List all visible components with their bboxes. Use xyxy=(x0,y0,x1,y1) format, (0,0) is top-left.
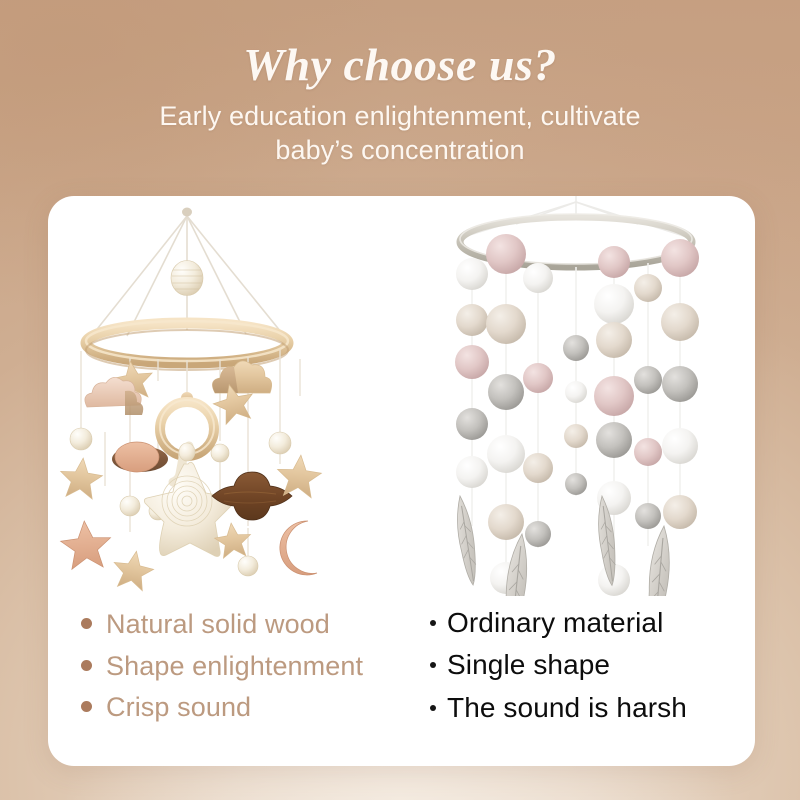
crochet-bead-top xyxy=(171,261,203,296)
our-feature-1: Natural solid wood xyxy=(106,607,330,643)
page-subtitle: Early education enlightenment, cultivate… xyxy=(0,99,800,167)
other-feature-1: Ordinary material xyxy=(447,605,663,641)
bullet-dot-icon xyxy=(430,705,436,711)
our-feature-2: Shape enlightenment xyxy=(106,649,363,685)
wood-moon xyxy=(280,521,317,575)
bullet-dot-icon xyxy=(81,660,92,671)
bullet-dot-icon xyxy=(81,701,92,712)
wooden-baby-mobile-image xyxy=(48,196,408,596)
our-feature-3: Crisp sound xyxy=(106,690,251,726)
felt-feather-1 xyxy=(452,495,480,586)
wood-star-2 xyxy=(58,456,104,500)
other-product-feature-list: Ordinary material Single shape The sound… xyxy=(416,601,755,751)
bullet-dot-icon xyxy=(430,662,436,668)
bullet-dot-icon xyxy=(430,620,436,626)
other-feature-2: Single shape xyxy=(447,647,610,683)
list-item: Shape enlightenment xyxy=(81,649,416,685)
promo-banner: Why choose us? Early education enlighten… xyxy=(0,0,800,800)
wood-star-salmon xyxy=(59,519,112,570)
list-item: Single shape xyxy=(430,647,755,683)
wood-star-3 xyxy=(110,548,156,592)
other-feature-3: The sound is harsh xyxy=(447,690,687,726)
our-product-feature-list: Natural solid wood Shape enlightenment C… xyxy=(48,601,416,751)
list-item: Ordinary material xyxy=(430,605,755,641)
page-subtitle-line-2: baby’s concentration xyxy=(0,133,800,167)
list-item: Natural solid wood xyxy=(81,607,416,643)
bullet-dot-icon xyxy=(81,618,92,629)
felt-pompom-baby-mobile-image xyxy=(408,196,755,596)
comparison-card: Natural solid wood Shape enlightenment C… xyxy=(48,196,755,766)
felt-feather-4 xyxy=(645,525,673,596)
product-images-row xyxy=(48,196,755,596)
feature-lists: Natural solid wood Shape enlightenment C… xyxy=(48,601,755,751)
page-title: Why choose us? xyxy=(0,42,800,88)
wood-planet-salmon xyxy=(112,442,168,472)
header: Why choose us? Early education enlighten… xyxy=(0,0,800,167)
list-item: The sound is harsh xyxy=(430,690,755,726)
list-item: Crisp sound xyxy=(81,690,416,726)
page-subtitle-line-1: Early education enlightenment, cultivate xyxy=(0,99,800,133)
